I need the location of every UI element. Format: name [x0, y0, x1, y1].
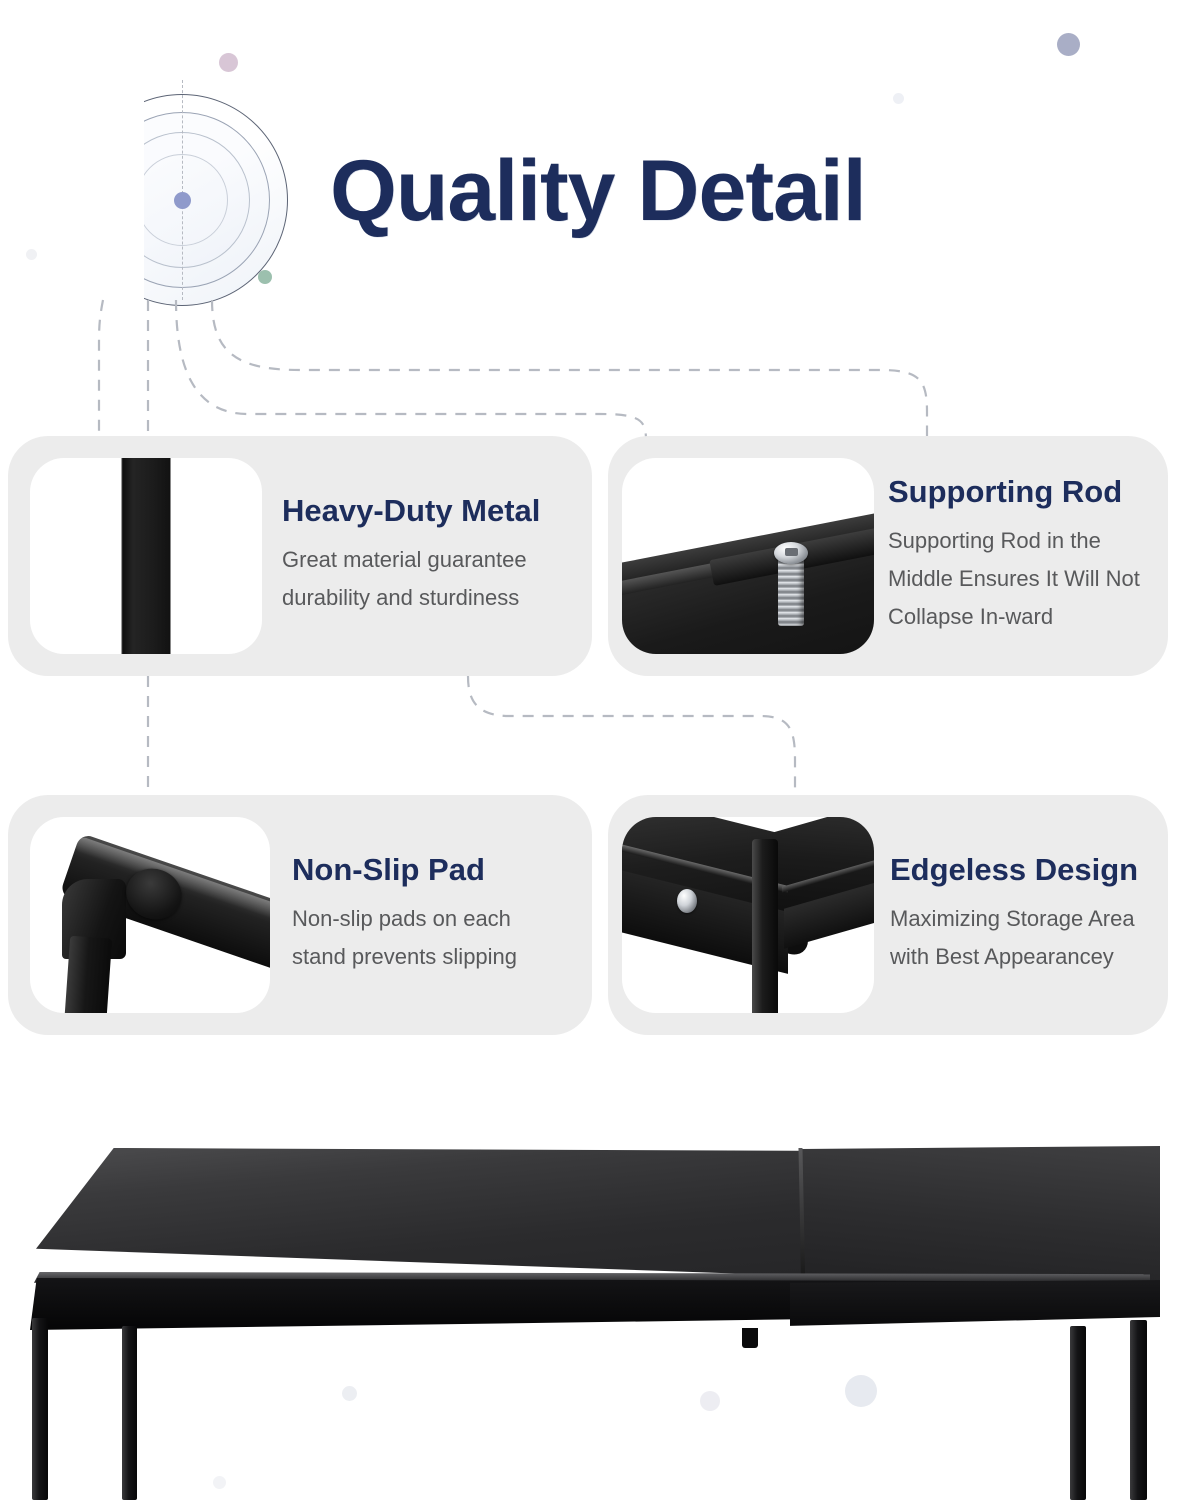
- table-apron-extension: [790, 1280, 1160, 1336]
- supporting-rod-with-screw-photo: [622, 458, 874, 654]
- feature-body: Great material guarantee durability and …: [282, 541, 578, 617]
- vertical-black-metal-bar-photo: [30, 458, 262, 654]
- table-leg-back-left: [122, 1326, 137, 1500]
- feature-body-line: Great material guarantee: [282, 541, 578, 579]
- feature-body-line: Supporting Rod in the: [888, 522, 1154, 560]
- corner-leg-shape: [752, 839, 778, 1013]
- feature-body: Non-slip pads on each stand prevents sli…: [292, 900, 578, 976]
- page-title: Quality Detail: [330, 148, 866, 234]
- screw-slot-shape: [785, 548, 798, 556]
- feature-body-line: Collapse In-ward: [888, 598, 1154, 636]
- feature-text-non-slip-pad: Non-Slip Pad Non-slip pads on each stand…: [270, 817, 592, 1013]
- feature-body-line: Maximizing Storage Area: [890, 900, 1154, 938]
- feature-body-line: Non-slip pads on each: [292, 900, 578, 938]
- table-apron-notch: [742, 1328, 758, 1348]
- feature-title: Non-Slip Pad: [292, 854, 578, 887]
- feature-card-supporting-rod: Supporting Rod Supporting Rod in the Mid…: [608, 436, 1168, 676]
- screw-shaft-shape: [778, 558, 804, 626]
- table-leg-front-right: [1130, 1320, 1147, 1500]
- table-top-extension-panel: [800, 1146, 1160, 1294]
- table-leg-front-left: [32, 1318, 48, 1500]
- rod-photo-scene: [622, 458, 874, 654]
- feature-title: Supporting Rod: [888, 476, 1154, 509]
- table-leg-non-slip-pad-photo: [30, 817, 270, 1013]
- feature-card-edgeless-design: Edgeless Design Maximizing Storage Area …: [608, 795, 1168, 1035]
- table-leg-back-right: [1070, 1326, 1086, 1500]
- feature-body-line: with Best Appearancey: [890, 938, 1154, 976]
- feature-title: Heavy-Duty Metal: [282, 495, 578, 528]
- pad-photo-scene: [30, 817, 270, 1013]
- feature-body: Maximizing Storage Area with Best Appear…: [890, 900, 1154, 976]
- feature-text-supporting-rod: Supporting Rod Supporting Rod in the Mid…: [874, 458, 1168, 654]
- feature-card-non-slip-pad: Non-Slip Pad Non-slip pads on each stand…: [8, 795, 592, 1035]
- feature-body: Supporting Rod in the Middle Ensures It …: [888, 522, 1154, 635]
- feature-body-line: Middle Ensures It Will Not: [888, 560, 1154, 598]
- edge-photo-scene: [622, 817, 874, 1013]
- feature-text-edgeless-design: Edgeless Design Maximizing Storage Area …: [874, 817, 1168, 1013]
- metal-bar-shape: [122, 458, 171, 654]
- feature-body-line: stand prevents slipping: [292, 938, 578, 976]
- leg-lower-shape: [62, 936, 112, 1013]
- feature-text-heavy-duty-metal: Heavy-Duty Metal Great material guarante…: [262, 458, 592, 654]
- feature-title: Edgeless Design: [890, 854, 1154, 887]
- table-corner-edgeless-photo: [622, 817, 874, 1013]
- black-metal-extendable-table-photo: [0, 1090, 1177, 1500]
- corner-screw-shape: [677, 889, 697, 913]
- quality-detail-infographic: Quality Detail Heavy-Duty Metal Great ma…: [0, 0, 1177, 1500]
- feature-body-line: durability and sturdiness: [282, 579, 578, 617]
- feature-card-heavy-duty-metal: Heavy-Duty Metal Great material guarante…: [8, 436, 592, 676]
